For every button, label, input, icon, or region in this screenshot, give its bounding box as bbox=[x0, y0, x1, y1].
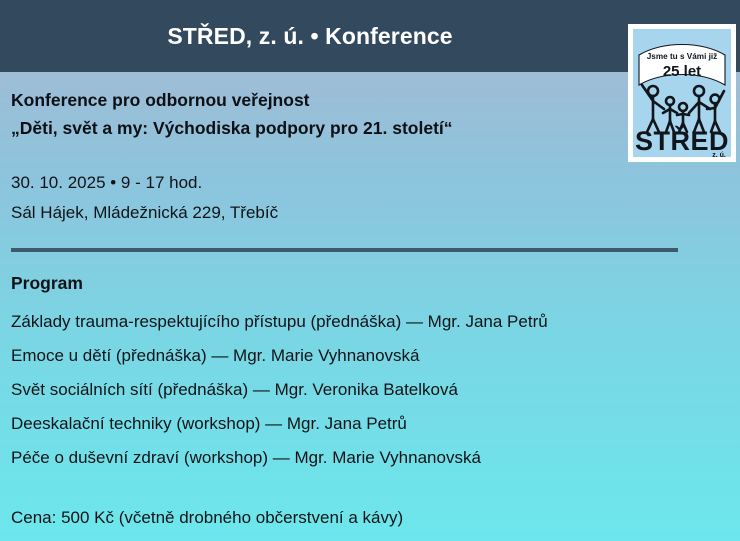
intro-line-1: Konference pro odbornou veřejnost bbox=[11, 72, 729, 110]
poster-body: Konference pro odbornou veřejnost „Děti,… bbox=[11, 72, 729, 221]
stred-logo: Jsme tu s Vámi již 25 let bbox=[628, 24, 736, 162]
list-item: Svět sociálních sítí (přednáška) — Mgr. … bbox=[11, 373, 548, 407]
list-item: Základy trauma-respektujícího přístupu (… bbox=[11, 305, 548, 339]
svg-text:Jsme tu s Vámi již: Jsme tu s Vámi již bbox=[647, 52, 718, 61]
svg-text:25 let: 25 let bbox=[663, 63, 701, 80]
program-list: Základy trauma-respektujícího přístupu (… bbox=[11, 305, 548, 475]
program-heading: Program bbox=[11, 273, 83, 294]
intro-block: Konference pro odbornou veřejnost „Děti,… bbox=[11, 72, 729, 137]
details-block: 30. 10. 2025 • 9 - 17 hod. Sál Hájek, Ml… bbox=[11, 137, 729, 221]
venue: Sál Hájek, Mládežnická 229, Třebíč bbox=[11, 191, 729, 221]
list-item: Emoce u dětí (přednáška) — Mgr. Marie Vy… bbox=[11, 339, 548, 373]
svg-text:z. ú.: z. ú. bbox=[712, 152, 726, 157]
price-note: Cena: 500 Kč (včetně drobného občerstven… bbox=[11, 508, 403, 528]
section-divider bbox=[11, 248, 678, 252]
date-time: 30. 10. 2025 • 9 - 17 hod. bbox=[11, 137, 729, 191]
intro-line-2: „Děti, svět a my: Východiska podpory pro… bbox=[11, 110, 729, 138]
page-title: STŘED, z. ú. • Konference bbox=[0, 0, 620, 72]
logo-artwork: Jsme tu s Vámi již 25 let bbox=[633, 29, 731, 157]
logo-panel: Jsme tu s Vámi již 25 let bbox=[633, 29, 731, 157]
list-item: Péče o duševní zdraví (workshop) — Mgr. … bbox=[11, 441, 548, 475]
conference-poster: STŘED, z. ú. • Konference Jsme tu s Vámi… bbox=[0, 0, 740, 541]
list-item: Deeskalační techniky (workshop) — Mgr. J… bbox=[11, 407, 548, 441]
